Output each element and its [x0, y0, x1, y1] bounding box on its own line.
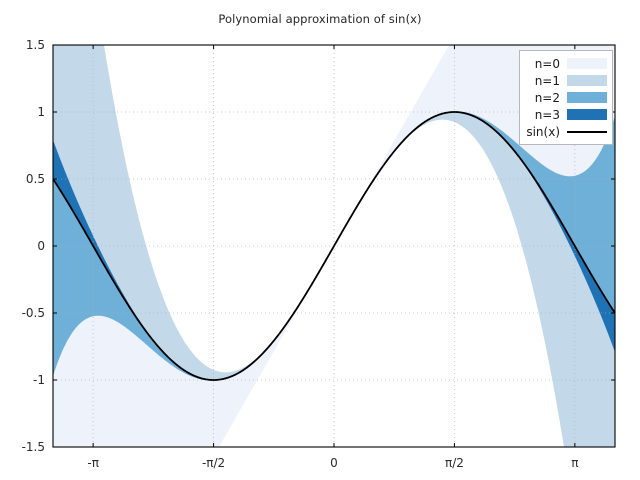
legend-line-sample: [567, 126, 607, 137]
legend: n=0n=1n=2n=3sin(x): [519, 50, 613, 145]
legend-item-label: n=1: [535, 74, 567, 88]
legend-line-stroke: [567, 131, 607, 133]
legend-color-swatch: [567, 109, 607, 120]
legend-item[interactable]: sin(x): [526, 123, 607, 140]
legend-item-label: sin(x): [526, 125, 567, 139]
figure-canvas: Polynomial approximation of sin(x) -1.5-…: [0, 0, 640, 480]
legend-item[interactable]: n=0: [526, 55, 607, 72]
legend-item[interactable]: n=3: [526, 106, 607, 123]
legend-item-label: n=0: [535, 57, 567, 71]
legend-color-swatch: [567, 92, 607, 103]
legend-item-label: n=2: [535, 91, 567, 105]
legend-item[interactable]: n=2: [526, 89, 607, 106]
legend-item[interactable]: n=1: [526, 72, 607, 89]
legend-item-label: n=3: [535, 108, 567, 122]
legend-color-swatch: [567, 58, 607, 69]
legend-color-swatch: [567, 75, 607, 86]
